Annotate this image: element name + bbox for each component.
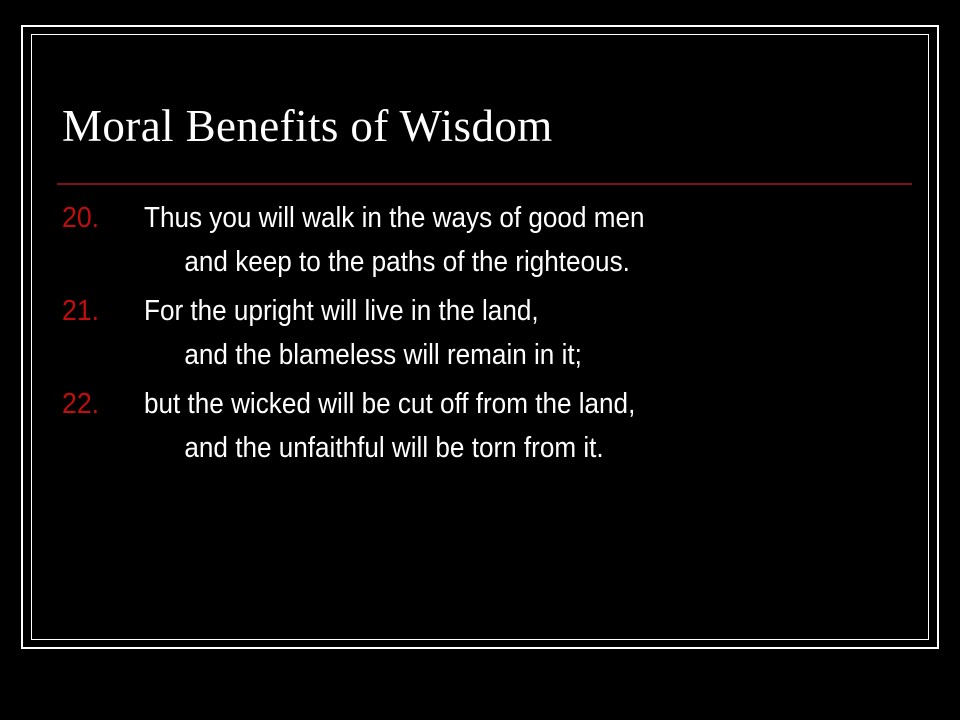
- verse-first-line: 20. Thus you will walk in the ways of go…: [62, 196, 922, 240]
- verse-text-line-1: For the upright will live in the land,: [144, 289, 539, 333]
- verse-text-line-1: but the wicked will be cut off from the …: [144, 382, 635, 426]
- verse-text-line-2: and the blameless will remain in it;: [62, 333, 836, 377]
- title-divider-rule: [57, 183, 912, 185]
- verse-number: 22.: [62, 382, 137, 426]
- list-item: 21. For the upright will live in the lan…: [62, 289, 922, 377]
- verse-text-line-1: Thus you will walk in the ways of good m…: [144, 196, 644, 240]
- verse-text-line-2: and keep to the paths of the righteous.: [62, 240, 836, 284]
- verse-list: 20. Thus you will walk in the ways of go…: [62, 196, 922, 475]
- page-title: Moral Benefits of Wisdom: [62, 99, 914, 153]
- verse-first-line: 21. For the upright will live in the lan…: [62, 289, 922, 333]
- slide-title-block: Moral Benefits of Wisdom: [62, 99, 914, 153]
- presentation-slide: Moral Benefits of Wisdom 20. Thus you wi…: [0, 0, 960, 720]
- verse-first-line: 22. but the wicked will be cut off from …: [62, 382, 922, 426]
- verse-number: 20.: [62, 196, 137, 240]
- list-item: 22. but the wicked will be cut off from …: [62, 382, 922, 470]
- verse-text-line-2: and the unfaithful will be torn from it.: [62, 426, 836, 470]
- list-item: 20. Thus you will walk in the ways of go…: [62, 196, 922, 284]
- verse-number: 21.: [62, 289, 137, 333]
